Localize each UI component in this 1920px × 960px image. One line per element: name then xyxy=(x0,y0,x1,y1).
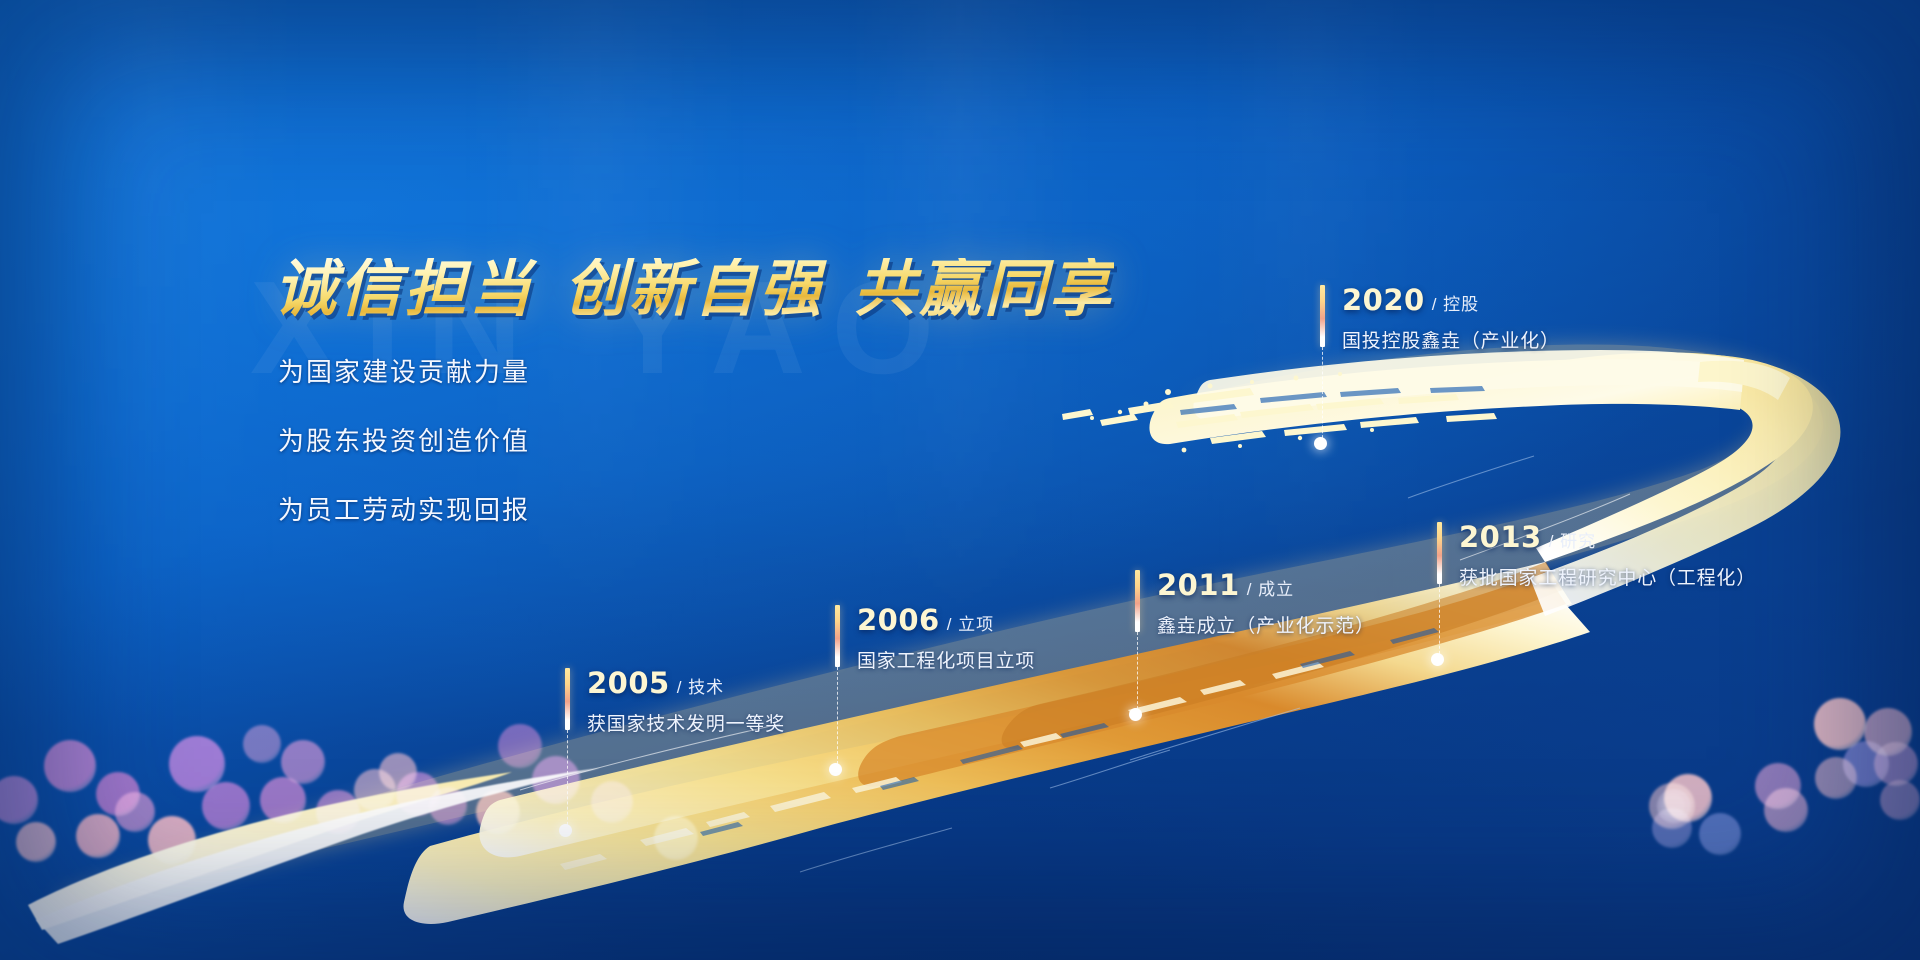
bokeh-circle xyxy=(1880,780,1920,820)
bokeh-circle xyxy=(148,816,196,864)
bokeh-circle xyxy=(1699,813,1741,855)
bokeh-circle xyxy=(379,753,417,791)
marker-year: 2011 xyxy=(1157,568,1240,602)
marker-dot[interactable] xyxy=(1129,708,1142,721)
marker-year: 2005 xyxy=(587,666,670,700)
bokeh-circle xyxy=(1764,788,1808,832)
bokeh-circle xyxy=(532,756,580,804)
marker-leader-line xyxy=(567,730,568,830)
marker-text-block: 2005/ 技术获国家技术发明一等奖 xyxy=(587,666,785,736)
marker-text-block: 2013/ 研究获批国家工程研究中心（工程化） xyxy=(1459,520,1756,590)
marker-leader-line xyxy=(837,667,838,769)
bokeh-circle xyxy=(591,781,633,823)
marker-year: 2013 xyxy=(1459,520,1542,554)
marker-dot[interactable] xyxy=(559,824,572,837)
bokeh-circle xyxy=(1815,757,1857,799)
marker-description: 获国家技术发明一等奖 xyxy=(587,709,785,736)
marker-year: 2020 xyxy=(1342,283,1425,317)
bokeh-circle xyxy=(0,776,38,824)
bokeh-circle xyxy=(429,787,467,825)
marker-leader-line xyxy=(1322,347,1323,443)
slogan-item: 为员工劳动实现回报 xyxy=(278,490,530,527)
marker-dot[interactable] xyxy=(1314,437,1327,450)
bokeh-circle xyxy=(476,790,520,834)
bokeh-circle xyxy=(281,740,325,784)
marker-category: / 成立 xyxy=(1247,580,1294,599)
marker-description: 国家工程化项目立项 xyxy=(857,646,1035,673)
bokeh-circle xyxy=(654,816,698,860)
marker-description: 鑫垚成立（产业化示范） xyxy=(1157,611,1375,638)
bokeh-circle xyxy=(243,725,281,763)
marker-category: / 立项 xyxy=(947,615,994,634)
marker-dot[interactable] xyxy=(1431,653,1444,666)
marker-description: 国投控股鑫垚（产业化） xyxy=(1342,326,1560,353)
bokeh-circle xyxy=(202,782,250,830)
headline-part-2: 创新自强 xyxy=(564,252,824,325)
marker-leader-line xyxy=(1137,632,1138,714)
marker-accent-bar xyxy=(1437,522,1442,584)
slogan-item: 为国家建设贡献力量 xyxy=(278,352,530,389)
marker-accent-bar xyxy=(835,605,840,667)
marker-description: 获批国家工程研究中心（工程化） xyxy=(1459,563,1756,590)
bokeh-circle xyxy=(316,790,360,834)
marker-category: / 技术 xyxy=(677,678,724,697)
bokeh-circle xyxy=(260,777,306,823)
page-title: 诚信担当创新自强共赢同享 xyxy=(274,258,1114,320)
marker-text-block: 2011/ 成立鑫垚成立（产业化示范） xyxy=(1157,568,1375,638)
slogan-list: 为国家建设贡献力量 为股东投资创造价值 为员工劳动实现回报 xyxy=(278,352,530,559)
slogan-item: 为股东投资创造价值 xyxy=(278,421,530,458)
marker-accent-bar xyxy=(565,668,570,730)
bokeh-circle xyxy=(498,724,542,768)
bokeh-circle xyxy=(44,740,96,792)
headline-part-1: 诚信担当 xyxy=(274,252,534,325)
marker-category: / 研究 xyxy=(1549,532,1596,551)
poster-canvas: XIN YAO xyxy=(0,0,1920,960)
marker-leader-line xyxy=(1439,584,1440,659)
marker-year: 2006 xyxy=(857,603,940,637)
marker-text-block: 2020/ 控股国投控股鑫垚（产业化） xyxy=(1342,283,1560,353)
bokeh-circle xyxy=(1661,794,1685,818)
marker-text-block: 2006/ 立项国家工程化项目立项 xyxy=(857,603,1035,673)
marker-dot[interactable] xyxy=(829,763,842,776)
marker-accent-bar xyxy=(1320,285,1325,347)
marker-category: / 控股 xyxy=(1432,295,1479,314)
marker-accent-bar xyxy=(1135,570,1140,632)
bokeh-circle xyxy=(16,822,56,862)
bokeh-circle xyxy=(76,814,120,858)
bokeh-circle xyxy=(115,792,155,832)
headline-part-3: 共赢同享 xyxy=(854,252,1114,325)
